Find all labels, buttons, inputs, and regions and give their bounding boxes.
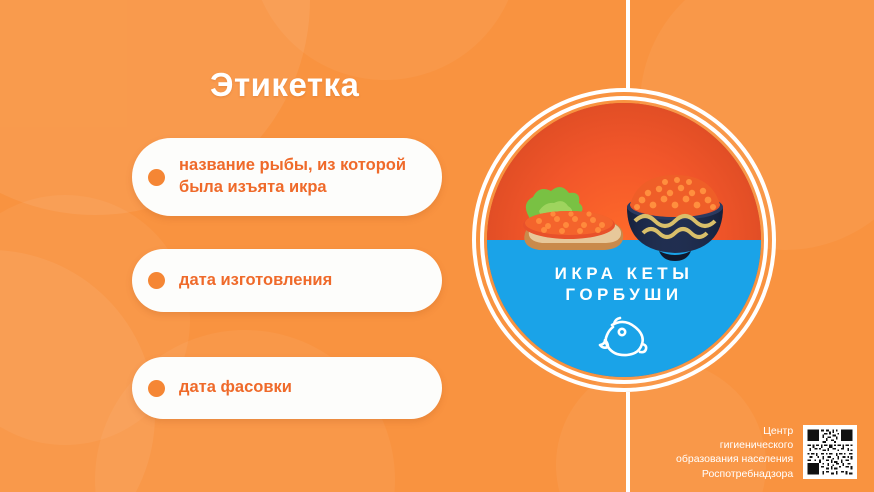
badge-caption: ИКРА КЕТЫ ГОРБУШИ: [487, 263, 761, 306]
list-item: дата изготовления: [132, 249, 442, 312]
bullet-dot-icon: [148, 380, 165, 397]
bullet-dot-icon: [148, 272, 165, 289]
caviar-illustration: [509, 155, 739, 265]
divider-line-bottom: [626, 392, 630, 492]
list-item-label: дата фасовки: [179, 377, 292, 399]
fish-icon: [598, 315, 650, 361]
badge-caption-line1: ИКРА КЕТЫ: [487, 263, 761, 284]
organization-name: Центр гигиенического образования населен…: [676, 424, 793, 481]
list-item-label: название рыбы, из которой была изъята ик…: [179, 155, 430, 199]
page-title: Этикетка: [210, 66, 359, 104]
bullet-dot-icon: [148, 169, 165, 186]
product-badge: ИКРА КЕТЫ ГОРБУШИ: [472, 88, 776, 392]
list-item: название рыбы, из которой была изъята ик…: [132, 138, 442, 216]
divider-line-top: [626, 0, 630, 90]
list-item-label: дата изготовления: [179, 270, 332, 292]
slide-canvas: Этикетка название рыбы, из которой была …: [0, 0, 874, 492]
badge-body: ИКРА КЕТЫ ГОРБУШИ: [487, 103, 761, 377]
list-item: дата фасовки: [132, 357, 442, 419]
qr-code-icon[interactable]: [803, 425, 857, 479]
badge-caption-line2: ГОРБУШИ: [487, 284, 761, 305]
footer-branding: Центр гигиенического образования населен…: [676, 424, 857, 481]
